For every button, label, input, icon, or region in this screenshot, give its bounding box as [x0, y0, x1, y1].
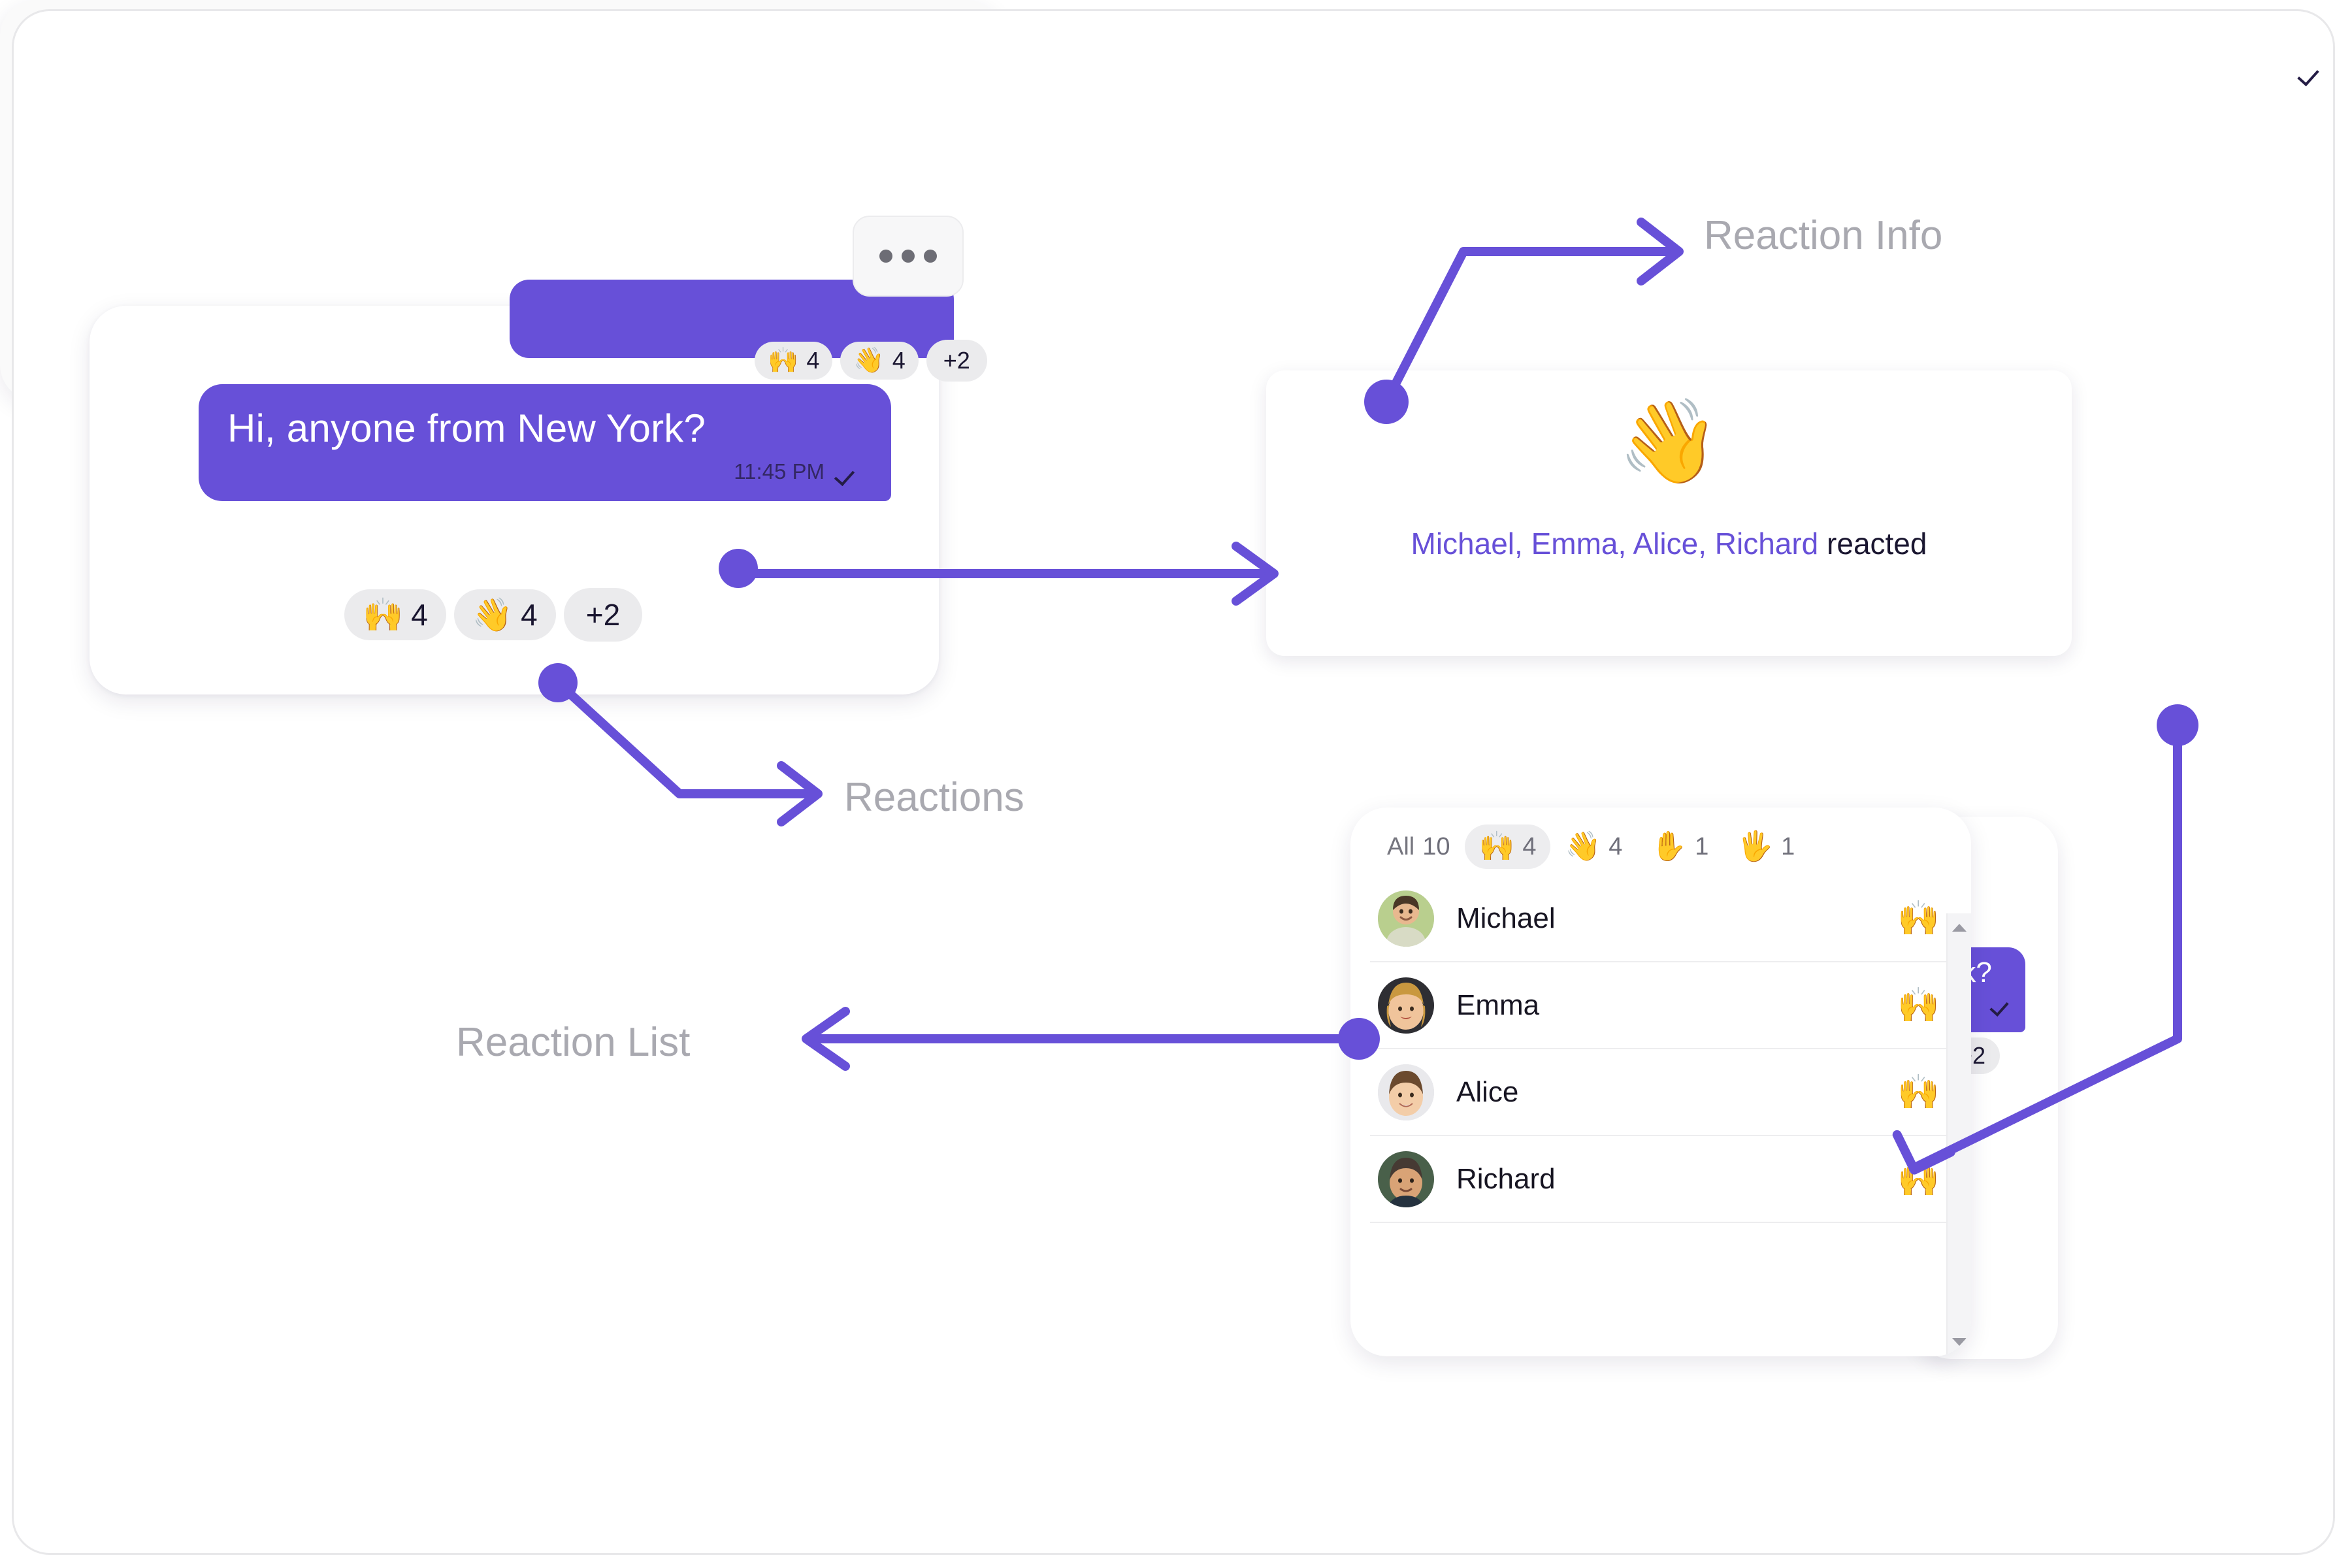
hand-with-fingers-splayed-emoji: 🖐 [1737, 832, 1773, 861]
raising-hands-emoji: 🙌 [768, 348, 798, 373]
tab-all[interactable]: All 10 [1373, 825, 1465, 869]
reactor-name: Michael [1456, 902, 1897, 935]
waving-hand-emoji: 👋 [853, 348, 884, 373]
raising-hands-emoji: 🙌 [1897, 985, 1940, 1025]
more-reactions-count: +2 [586, 600, 620, 630]
tab-count: 4 [1609, 833, 1622, 861]
annotation-reactions: Reactions [844, 774, 1024, 821]
reaction-chip-raising-hands[interactable]: 🙌 4 [755, 342, 832, 380]
scroll-down-icon[interactable] [1948, 1330, 1971, 1354]
tab-count: 1 [1781, 833, 1795, 861]
reaction-info-tooltip: 👋 Michael, Emma, Alice, Richard reacted [1266, 370, 2072, 656]
raising-hands-emoji: 🙌 [1897, 1159, 1940, 1199]
avatar-image [1378, 1151, 1434, 1207]
raising-hands-emoji: 🙌 [1897, 898, 1940, 938]
reaction-count: 4 [411, 600, 428, 630]
reactor-name: Richard [1456, 1163, 1897, 1196]
check-icon [1993, 997, 2016, 1014]
reaction-chip-raising-hands[interactable]: 🙌 4 [344, 589, 446, 640]
avatar-image [1378, 977, 1434, 1034]
tab-waving-hand[interactable]: 👋 4 [1550, 825, 1637, 869]
reactor-names: Michael, Emma, Alice, Richard [1411, 527, 1819, 561]
waving-hand-emoji: 👋 [1266, 400, 2072, 483]
reactor-name: Emma [1456, 989, 1897, 1022]
reaction-chip-more[interactable]: +2 [926, 340, 987, 382]
avatar-image [1378, 890, 1434, 947]
scroll-up-icon[interactable] [1948, 916, 1971, 939]
waving-hand-emoji: 👋 [472, 598, 513, 631]
reaction-chip-waving-hand[interactable]: 👋 4 [454, 589, 556, 640]
more-options-icon [924, 250, 937, 263]
tab-raised-hand[interactable]: ✋ 1 [1637, 825, 1723, 869]
raised-hand-emoji: ✋ [1651, 832, 1687, 861]
reaction-filter-tabs: All 10 🙌 4 👋 4 ✋ 1 🖐 1 [1350, 808, 1971, 875]
message-reaction-chips: 🙌 4 👋 4 +2 [344, 588, 642, 642]
message-time: 11:45 PM [734, 459, 825, 484]
waving-hand-emoji: 👋 [1565, 832, 1601, 861]
background-message-text: k? [2283, 14, 2322, 57]
tab-count: 1 [1695, 833, 1708, 861]
reaction-chip-waving-hand[interactable]: 👋 4 [840, 342, 918, 380]
tab-count: 4 [1522, 833, 1536, 861]
avatar [1378, 890, 1434, 947]
annotation-reaction-list: Reaction List [456, 1019, 690, 1066]
more-options-icon [902, 250, 915, 263]
tab-hand-splayed[interactable]: 🖐 1 [1723, 825, 1809, 869]
list-item[interactable]: Alice 🙌 [1370, 1049, 1952, 1136]
more-reactions-count: +2 [943, 349, 970, 372]
reaction-count: 4 [806, 349, 819, 372]
scrollbar[interactable] [1946, 913, 1971, 1356]
check-icon [836, 463, 862, 481]
more-options-icon [879, 250, 892, 263]
raising-hands-emoji: 🙌 [1479, 832, 1515, 861]
raising-hands-emoji: 🙌 [363, 598, 403, 631]
list-item[interactable]: Michael 🙌 [1370, 875, 1952, 962]
reaction-info-chips: 🙌 4 👋 4 +2 [755, 340, 987, 382]
avatar-image [1378, 1064, 1434, 1120]
list-item[interactable]: Richard 🙌 [1370, 1136, 1952, 1223]
message-text: Hi, anyone from New York? [227, 406, 862, 450]
check-icon [2300, 63, 2327, 82]
reaction-chip-more[interactable]: +2 [564, 588, 642, 642]
annotation-reaction-info: Reaction Info [1704, 212, 1942, 259]
raising-hands-emoji: 🙌 [1897, 1072, 1940, 1112]
avatar [1378, 1151, 1434, 1207]
tab-all-label: All [1387, 833, 1414, 861]
reaction-info-text: Michael, Emma, Alice, Richard reacted [1266, 526, 2072, 561]
tab-raising-hands[interactable]: 🙌 4 [1465, 825, 1551, 869]
more-options-button[interactable] [853, 216, 964, 297]
reactor-name: Alice [1456, 1076, 1897, 1109]
chat-bubble[interactable]: Hi, anyone from New York? 11:45 PM [199, 384, 891, 501]
reaction-count: 4 [521, 600, 538, 630]
avatar [1378, 977, 1434, 1034]
reacted-suffix: reacted [1818, 527, 1927, 561]
reaction-count: 4 [892, 349, 906, 372]
reaction-list-panel: All 10 🙌 4 👋 4 ✋ 1 🖐 1 [1350, 808, 1971, 1356]
screenshot-canvas: Hi, anyone from New York? 11:45 PM 🙌 4 👋… [0, 0, 2352, 1568]
message-meta: 11:45 PM [227, 459, 862, 484]
avatar [1378, 1064, 1434, 1120]
tab-all-count: 10 [1422, 833, 1450, 861]
list-item[interactable]: Emma 🙌 [1370, 962, 1952, 1049]
